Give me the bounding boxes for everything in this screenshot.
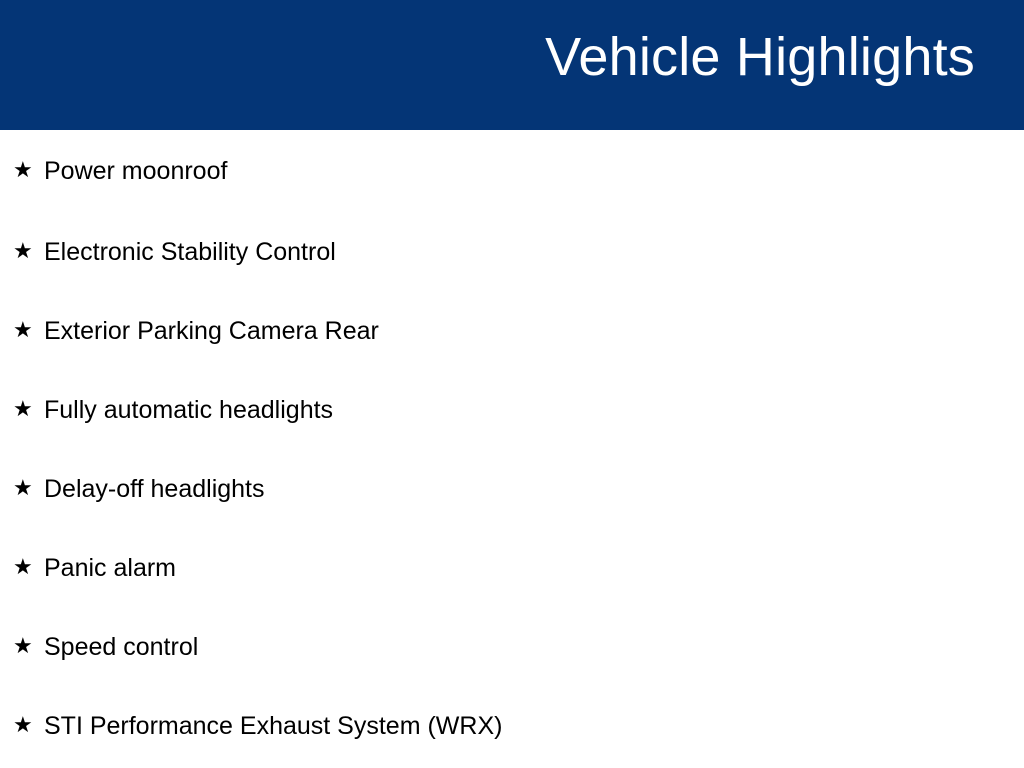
- list-item: ★ Speed control: [0, 607, 1024, 686]
- vehicle-highlights-list: ★ Power moonroof ★ Electronic Stability …: [0, 130, 1024, 765]
- list-item: ★ STI Performance Exhaust System (WRX): [0, 686, 1024, 765]
- star-bullet-icon: ★: [13, 399, 33, 421]
- star-bullet-icon: ★: [13, 160, 33, 182]
- list-item: ★ Exterior Parking Camera Rear: [0, 291, 1024, 370]
- slide-header-banner: Vehicle Highlights: [0, 0, 1024, 130]
- highlight-label: Power moonroof: [44, 156, 227, 186]
- star-bullet-icon: ★: [13, 478, 33, 500]
- highlight-label: Fully automatic headlights: [44, 395, 333, 425]
- star-bullet-icon: ★: [13, 241, 33, 263]
- list-item: ★ Electronic Stability Control: [0, 212, 1024, 291]
- highlight-label: Delay-off headlights: [44, 474, 265, 504]
- list-item: ★ Fully automatic headlights: [0, 370, 1024, 449]
- highlight-label: Panic alarm: [44, 553, 176, 583]
- highlight-label: Electronic Stability Control: [44, 237, 336, 267]
- page-title: Vehicle Highlights: [545, 26, 975, 88]
- star-bullet-icon: ★: [13, 320, 33, 342]
- vehicle-highlights-slide: Vehicle Highlights ★ Power moonroof ★ El…: [0, 0, 1024, 768]
- highlight-label: STI Performance Exhaust System (WRX): [44, 711, 502, 741]
- list-item: ★ Delay-off headlights: [0, 449, 1024, 528]
- star-bullet-icon: ★: [13, 636, 33, 658]
- list-item: ★ Panic alarm: [0, 528, 1024, 607]
- list-item: ★ Power moonroof: [0, 130, 1024, 212]
- star-bullet-icon: ★: [13, 557, 33, 579]
- highlight-label: Exterior Parking Camera Rear: [44, 316, 379, 346]
- highlight-label: Speed control: [44, 632, 198, 662]
- star-bullet-icon: ★: [13, 715, 33, 737]
